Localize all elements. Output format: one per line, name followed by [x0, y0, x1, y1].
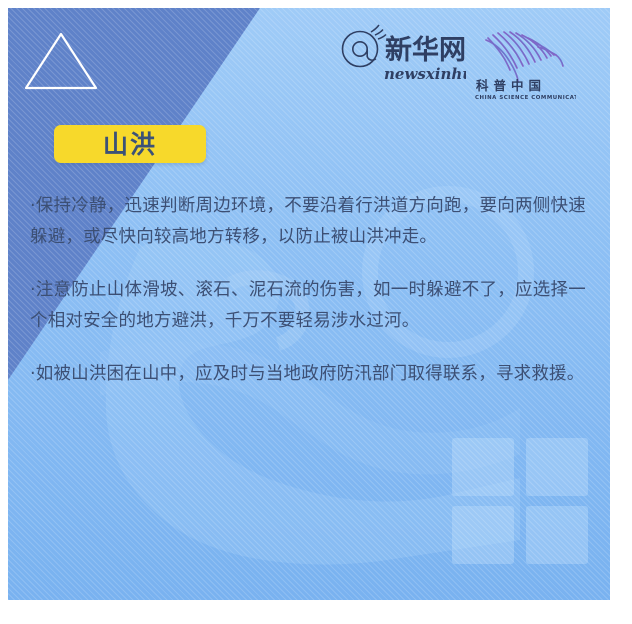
watermark-window-panes: [444, 432, 610, 572]
triangle-icon: [22, 30, 100, 92]
advice-list: ·保持冷静，迅速判断周边环境，不要沿着行洪道方向跑，要向两侧快速躲避，或尽快向较…: [30, 191, 586, 390]
svg-text:新华网: 新华网: [385, 34, 466, 66]
svg-text:CHINA SCIENCE COMMUNICATION: CHINA SCIENCE COMMUNICATION: [475, 95, 576, 101]
logo-group: 新华网 newsxinhua: [340, 24, 576, 102]
category-badge: 山洪: [54, 125, 206, 163]
svg-text:科普中国: 科普中国: [476, 78, 546, 93]
kepu-china-logo: 科普中国 CHINA SCIENCE COMMUNICATION: [472, 24, 576, 102]
svg-text:newsxinhua: newsxinhua: [384, 65, 466, 83]
advice-paragraph-1: ·保持冷静，迅速判断周边环境，不要沿着行洪道方向跑，要向两侧快速躲避，或尽快向较…: [30, 191, 586, 253]
poster-root: 新华网 newsxinhua: [0, 0, 632, 624]
poster-card: 新华网 newsxinhua: [8, 8, 610, 600]
advice-paragraph-3: ·如被山洪困在山中，应及时与当地政府防汛部门取得联系，寻求救援。: [30, 359, 586, 390]
category-badge-label: 山洪: [103, 132, 157, 157]
advice-paragraph-2: ·注意防止山体滑坡、滚石、泥石流的伤害，如一时躲避不了，应选择一个相对安全的地方…: [30, 275, 586, 337]
xinhua-logo: 新华网 newsxinhua: [340, 24, 466, 86]
